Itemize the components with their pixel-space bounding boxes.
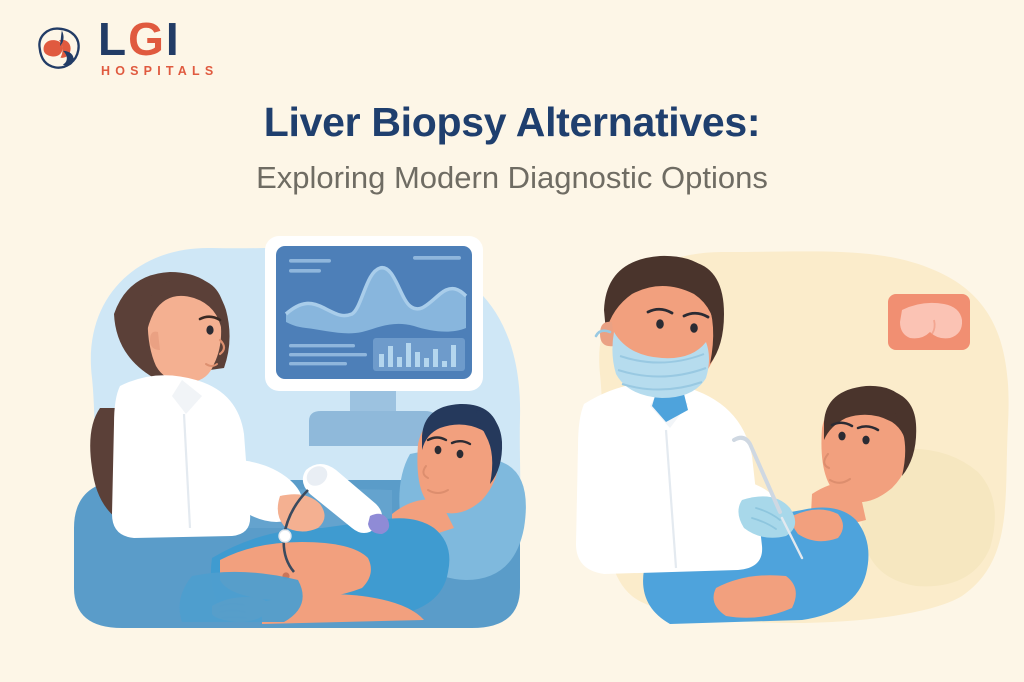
- logo-letter-i: I: [166, 13, 181, 65]
- logo-tagline: HOSPITALS: [101, 65, 218, 78]
- poster-canvas: LGI HOSPITALS Liver Biopsy Alternatives:…: [0, 0, 1024, 682]
- liver-logo-icon: [30, 19, 88, 77]
- liver-diagram-card[interactable]: [888, 294, 970, 350]
- logo-letter-g: G: [128, 13, 166, 65]
- logo-letter-l: L: [98, 13, 128, 65]
- header-block: Liver Biopsy Alternatives: Exploring Mod…: [0, 100, 1024, 196]
- fibroscan-procedure-scene: [566, 228, 1012, 638]
- logo-wordmark: LGI HOSPITALS: [98, 18, 218, 77]
- monitor-bar-chart: [373, 338, 465, 371]
- page-title: Liver Biopsy Alternatives:: [0, 100, 1024, 146]
- ultrasound-examination-scene: [62, 228, 532, 638]
- page-subtitle: Exploring Modern Diagnostic Options: [0, 160, 1024, 196]
- brand-logo[interactable]: LGI HOSPITALS: [30, 18, 218, 77]
